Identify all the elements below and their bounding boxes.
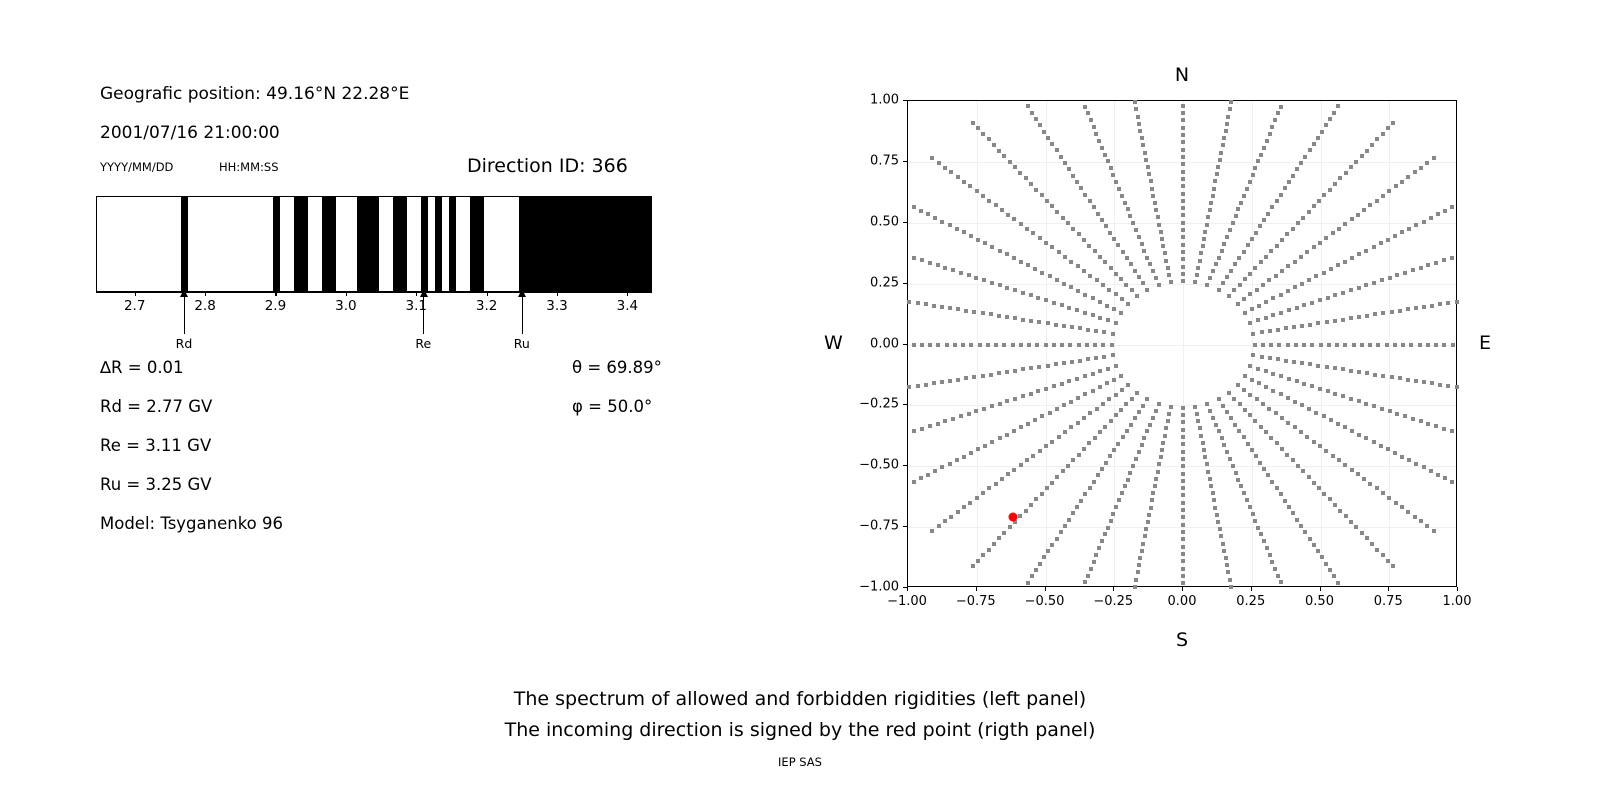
scatter-point [1021,394,1025,398]
scatter-point [1229,585,1233,589]
scatter-point [1253,166,1257,170]
scatter-point [1305,435,1309,439]
scatter-point [1062,403,1066,407]
scatter-point [1114,413,1118,417]
scatter-point [1013,397,1017,401]
axis-tick [135,292,136,296]
scatter-point [983,241,987,245]
scatter-point [1352,343,1356,347]
scatter-point [1264,430,1268,434]
x-axis-tick-label: 0.25 [1236,594,1265,609]
scatter-point [1322,492,1326,496]
scatter-point [1232,288,1236,292]
forbidden-band [421,196,428,292]
scatter-point [1181,501,1185,505]
scatter-point [1357,399,1361,403]
scatter-point [1112,307,1116,311]
scatter-point [1238,402,1242,406]
scatter-point [1302,382,1306,386]
scatter-point [1248,180,1252,184]
scatter-point [1131,221,1135,225]
scatter-point [1109,166,1113,170]
scatter-point [1181,155,1185,159]
y-axis-tick-label: 0.00 [849,336,899,351]
scatter-point [1062,324,1066,328]
scatter-point [945,343,949,347]
scatter-point [976,126,980,130]
scatter-point [1126,302,1130,306]
scatter-point [1265,139,1269,143]
scatter-point [1019,425,1023,429]
scatter-point [1082,416,1086,420]
scatter-point [1181,413,1185,417]
scatter-point [948,223,952,227]
scatter-point [1071,511,1075,515]
scatter-point [1243,311,1247,315]
scatter-point [994,343,998,347]
scatter-point [1067,306,1071,310]
scatter-point [1326,296,1330,300]
scatter-point [1364,249,1368,253]
scatter-point [1121,250,1125,254]
scatter-point [1040,193,1044,197]
scatter-point [987,486,991,490]
scatter-point [1105,304,1109,308]
scatter-point [1131,464,1135,468]
x-axis-tick [907,587,908,591]
scatter-point [1163,434,1167,438]
scatter-point [1251,512,1255,516]
scatter-point [1251,353,1255,357]
scatter-point [919,476,923,480]
scatter-point [1349,520,1353,524]
scatter-point [1372,245,1376,249]
direction-id-label: Direction ID: 366 [467,155,628,177]
scatter-point [920,427,924,431]
scatter-point [1071,174,1075,178]
scatter-point [1143,534,1147,538]
scatter-point [1403,271,1407,275]
scatter-point [1312,204,1316,208]
scatter-point [1012,256,1016,260]
scatter-point [1055,475,1059,479]
scatter-point [1181,257,1185,261]
parameter-label: Re = 3.11 GV [100,436,211,455]
scatter-point [1050,142,1054,146]
scatter-point [933,469,937,473]
scatter-point [1154,208,1158,212]
scatter-point [1259,260,1263,264]
scatter-point [924,302,928,306]
scatter-point [1379,444,1383,448]
scatter-point [1057,435,1061,439]
scatter-point [1157,283,1161,287]
scatter-point [1091,372,1095,376]
scatter-point [919,209,923,213]
scatter-point [1286,289,1290,293]
scatter-point [1316,321,1320,325]
scatter-point [1349,369,1353,373]
scatter-point [982,278,986,282]
scatter-point [1295,379,1299,383]
scatter-point [1341,318,1345,322]
scatter-point [1012,217,1016,221]
scatter-point [1142,436,1146,440]
scatter-point [1095,278,1099,282]
scatter-point [1381,374,1385,378]
scatter-point [1110,343,1114,347]
scatter-point [1344,514,1348,518]
scatter-point [1343,425,1347,429]
scatter-point [1201,441,1205,445]
scatter-point [1030,111,1034,115]
scatter-point [1108,231,1112,235]
scatter-point [974,276,978,280]
scatter-point [1128,471,1132,475]
scatter-point [1436,473,1440,477]
scatter-point [968,501,972,505]
scatter-point [1262,467,1266,471]
scatter-point [1239,201,1243,205]
scatter-point [1284,359,1288,363]
scatter-point [1248,321,1252,325]
scatter-point [1411,417,1415,421]
scatter-point [1234,214,1238,218]
scatter-point [1005,286,1009,290]
scatter-point [1370,143,1374,147]
scatter-point [1300,282,1304,286]
scatter-point [1364,283,1368,287]
scatter-point [1414,223,1418,227]
scatter-point [1381,194,1385,198]
scatter-point [1140,443,1144,447]
scatter-point [1419,266,1423,270]
scatter-point [1076,396,1080,400]
scatter-point [1181,523,1185,527]
scatter-point [1024,509,1028,513]
scatter-point [1138,129,1142,133]
scatter-point [1037,365,1041,369]
scatter-point [937,161,941,165]
scatter-point [1140,136,1144,140]
axis-tick-label: 3.3 [546,298,567,314]
scatter-point [1086,574,1090,578]
scatter-point [1406,378,1410,382]
scatter-point [1425,161,1429,165]
scatter-point [1181,581,1185,585]
scatter-point [1102,355,1106,359]
scatter-point [1121,435,1125,439]
scatter-point [1133,416,1137,420]
scatter-point [1157,402,1161,406]
scatter-point [1413,515,1417,519]
scatter-point [1181,140,1185,144]
scatter-point [936,263,940,267]
forbidden-band [273,196,280,292]
scatter-point [1098,385,1102,389]
scatter-point [1422,305,1426,309]
scatter-point [1026,263,1030,267]
scatter-point [1103,153,1107,157]
scatter-point [1365,536,1369,540]
scatter-point [1042,555,1046,559]
scatter-point [1096,473,1100,477]
scatter-point [912,480,916,484]
scatter-point [1046,364,1050,368]
scatter-point [1430,381,1434,385]
scatter-point [1107,288,1111,292]
scatter-point [962,505,966,509]
scatter-point [1006,213,1010,217]
axis-tick-label: 2.7 [124,298,145,314]
scatter-point [1046,549,1050,553]
scatter-point [981,553,985,557]
scatter-point [1333,293,1337,297]
compass-label-east: E [1479,332,1491,354]
scatter-point [1266,212,1270,216]
scatter-point [1134,228,1138,232]
y-axis-tick-label: 0.25 [849,275,899,290]
scatter-point [1208,409,1212,413]
scatter-point [1034,188,1038,192]
scatter-point [1256,526,1260,530]
scatter-point [1422,465,1426,469]
scatter-point [1287,308,1291,312]
scatter-point [1117,187,1121,191]
scatter-point [1291,174,1295,178]
scatter-point [1254,231,1258,235]
scatter-point [959,271,963,275]
scatter-point [976,447,980,451]
scatter-point [1293,425,1297,429]
scatter-point [1305,250,1309,254]
scatter-point [1130,397,1134,401]
scatter-point [1218,158,1222,162]
scatter-point [1205,283,1209,287]
scatter-point [1261,402,1265,406]
scatter-point [1181,435,1185,439]
scatter-point [1181,420,1185,424]
scatter-point [1422,220,1426,224]
scatter-point [1134,457,1138,461]
scatter-point [978,343,982,347]
scatter-point [1008,525,1012,529]
scatter-point [1063,255,1067,259]
scatter-point [1286,264,1290,268]
scatter-point [1114,364,1118,368]
scatter-point [1370,542,1374,546]
scatter-point [1137,122,1141,126]
scatter-point [1145,397,1149,401]
scatter-point [1206,215,1210,219]
scatter-point [1386,559,1390,563]
scatter-point [1055,210,1059,214]
scatter-point [1126,383,1130,387]
scatter-point [1120,297,1124,301]
arrow-shaft [522,296,523,334]
scatter-point [1295,518,1299,522]
scatter-point [1455,300,1459,304]
scatter-point [1151,491,1155,495]
scatter-point [1082,238,1086,242]
scatter-point [1322,414,1326,418]
scatter-point [1201,244,1205,248]
scatter-point [1406,307,1410,311]
scatter-point [1195,273,1199,277]
date-format-hint: YYYY/MM/DD [100,160,173,174]
scatter-point [1259,532,1263,536]
scatter-point [1106,367,1110,371]
angle-parameter-label: θ = 69.89° [572,358,662,377]
datetime-label: 2001/07/16 21:00:00 [100,123,280,143]
rigidity-spectrum-panel: Geografic position: 49.16°N 22.28°E 2001… [0,0,800,800]
rigidity-spectrum-chart [96,196,652,292]
scatter-point [955,458,959,462]
scatter-point [1048,274,1052,278]
scatter-point [1151,194,1155,198]
scatter-point [1248,393,1252,397]
scatter-point [1205,462,1209,466]
scatter-point [1181,552,1185,556]
scatter-point [1354,525,1358,529]
scatter-point [997,371,1001,375]
scatter-point [1224,129,1228,133]
scatter-point [1181,493,1185,497]
scatter-point [1217,429,1221,433]
scatter-point [1209,201,1213,205]
scatter-point [1333,182,1337,186]
scatter-point [1181,428,1185,432]
scatter-point [1137,235,1141,239]
scatter-point [940,465,944,469]
scatter-point [1036,296,1040,300]
scatter-point [1092,560,1096,564]
scatter-point [1312,440,1316,444]
scatter-point [1286,396,1290,400]
scatter-point [1279,311,1283,315]
scatter-point [1093,343,1097,347]
scatter-point [1138,556,1142,560]
parameter-label: Ru = 3.25 GV [100,475,212,494]
scatter-point [1432,529,1436,533]
scatter-point [1328,497,1332,501]
compass-label-south: S [1176,629,1188,651]
scatter-point [1409,343,1413,347]
scatter-point [1196,266,1200,270]
scatter-point [932,304,936,308]
scatter-point [1357,252,1361,256]
scatter-point [1446,384,1450,388]
scatter-point [1312,543,1316,547]
scatter-point [949,170,953,174]
scatter-point [1076,289,1080,293]
scatter-point [1154,409,1158,413]
scatter-point [1083,374,1087,378]
scatter-point [1318,387,1322,391]
y-axis-tick [903,222,907,223]
scatter-point [1151,269,1155,273]
scatter-point [1426,343,1430,347]
scatter-point [1034,117,1038,121]
scatter-point [1429,469,1433,473]
scatter-point [1057,250,1061,254]
scatter-point [1438,383,1442,387]
scatter-point [1388,276,1392,280]
scatter-point [1146,520,1150,524]
scatter-point [1214,423,1218,427]
arrow-head-icon [420,289,428,297]
scatter-point [1071,227,1075,231]
scatter-point [1229,416,1233,420]
scatter-point [1268,329,1272,333]
scatter-point [1242,388,1246,392]
scatter-point [1062,282,1066,286]
scatter-point [1228,107,1232,111]
scatter-point [1221,281,1225,285]
scatter-point [1271,372,1275,376]
scatter-point [907,385,911,389]
scatter-point [1103,425,1107,429]
scatter-point [1202,448,1206,452]
scatter-point [1141,404,1145,408]
scatter-point [1222,136,1226,140]
scatter-point [1238,283,1242,287]
scatter-point [1337,227,1341,231]
scatter-point [1344,171,1348,175]
scatter-point [1106,159,1110,163]
scatter-point [1193,405,1197,409]
scatter-point [1400,455,1404,459]
scatter-point [924,383,928,387]
scatter-point [1181,537,1185,541]
scatter-point [1243,374,1247,378]
scatter-point [1144,158,1148,162]
scatter-point [1336,581,1340,585]
scatter-point [1119,408,1123,412]
rigidity-marker-label: Rd [176,336,193,351]
scatter-point [1181,515,1185,519]
x-axis-tick [1320,587,1321,591]
scatter-point [971,564,975,568]
scatter-point [1211,416,1215,420]
scatter-point [956,510,960,514]
scatter-point [1279,492,1283,496]
scatter-point [1231,464,1235,468]
scatter-point [1443,209,1447,213]
scatter-point [916,301,920,305]
scatter-point [1407,227,1411,231]
scatter-point [1338,176,1342,180]
arrow-head-icon [518,289,526,297]
scatter-point [1181,574,1185,578]
scatter-point [962,180,966,184]
scatter-point [1137,410,1141,414]
scatter-point [1181,111,1185,115]
scatter-point [1349,397,1353,401]
scatter-point [1299,255,1303,259]
scatter-point [1046,321,1050,325]
x-axis-tick [976,587,977,591]
scatter-point [1398,309,1402,313]
scatter-point [1078,359,1082,363]
scatter-point [1414,306,1418,310]
scatter-point [987,199,991,203]
scatter-point [1150,187,1154,191]
scatter-point [1242,194,1246,198]
scatter-point [1199,434,1203,438]
scatter-point [1336,263,1340,267]
scatter-point [1225,450,1229,454]
